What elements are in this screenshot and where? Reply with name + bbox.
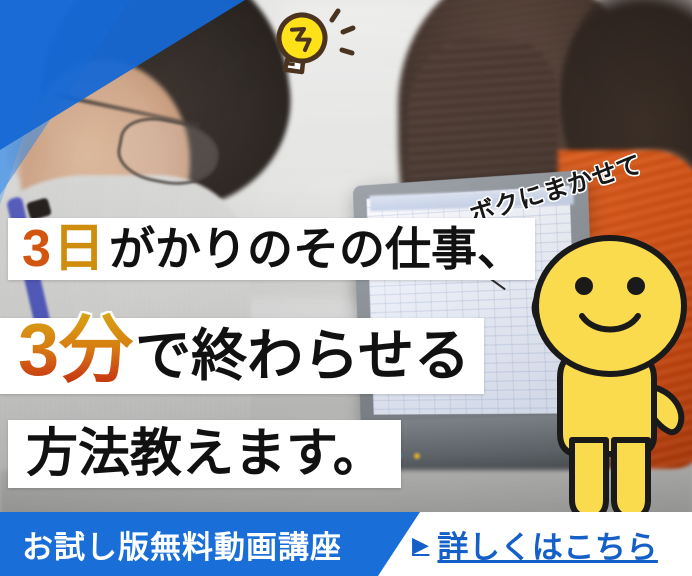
headline-line3-text: 方法教えます。 bbox=[26, 428, 385, 480]
cta-detail-link[interactable]: ▶ 詳しくはこちら bbox=[412, 512, 658, 576]
cta-link-label: 詳しくはこちら bbox=[437, 522, 658, 567]
headline-band-1: 3 日 がかりのその仕事、 bbox=[8, 218, 535, 280]
headline-unit-day: 日 bbox=[53, 223, 105, 275]
headline-line1-rest: がかりのその仕事、 bbox=[109, 226, 523, 272]
lightbulb-idea-icon bbox=[256, 6, 360, 90]
headline-band-2: 3分 で終わらせる bbox=[0, 318, 484, 394]
mascot-eye-right bbox=[627, 277, 645, 295]
triangle-right-icon: ▶ bbox=[412, 534, 429, 556]
cta-badge[interactable]: お試し版無料動画講座 bbox=[0, 512, 420, 576]
cta-bar: お試し版無料動画講座 ▶ 詳しくはこちら bbox=[0, 512, 692, 576]
corner-triangle-dark bbox=[0, 0, 250, 190]
headline-band-3: 方法教えます。 bbox=[8, 420, 401, 488]
headline-line2-rest: で終わらせる bbox=[135, 328, 470, 384]
corner-decoration bbox=[0, 0, 250, 190]
headline-number-3days: 3 bbox=[22, 223, 51, 275]
promo-banner: ボクにまかせて 3 日 がかりのその仕事 bbox=[0, 0, 692, 576]
cta-badge-label: お試し版無料動画講座 bbox=[0, 522, 342, 567]
headline-highlight-3min: 3分 bbox=[18, 313, 133, 387]
mascot-eye-left bbox=[575, 277, 593, 295]
